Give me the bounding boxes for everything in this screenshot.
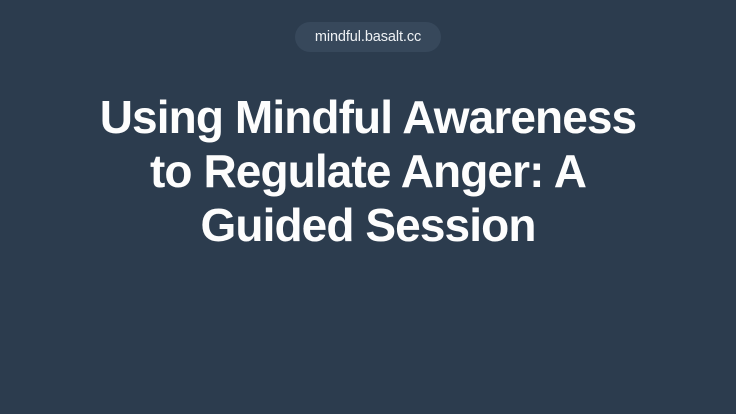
- domain-label: mindful.basalt.cc: [315, 30, 421, 45]
- page-title: Using Mindful Awareness to Regulate Ange…: [88, 90, 648, 252]
- domain-badge: mindful.basalt.cc: [295, 22, 441, 52]
- link-preview-card: mindful.basalt.cc Using Mindful Awarenes…: [0, 0, 736, 414]
- headline-container: Using Mindful Awareness to Regulate Ange…: [88, 90, 648, 252]
